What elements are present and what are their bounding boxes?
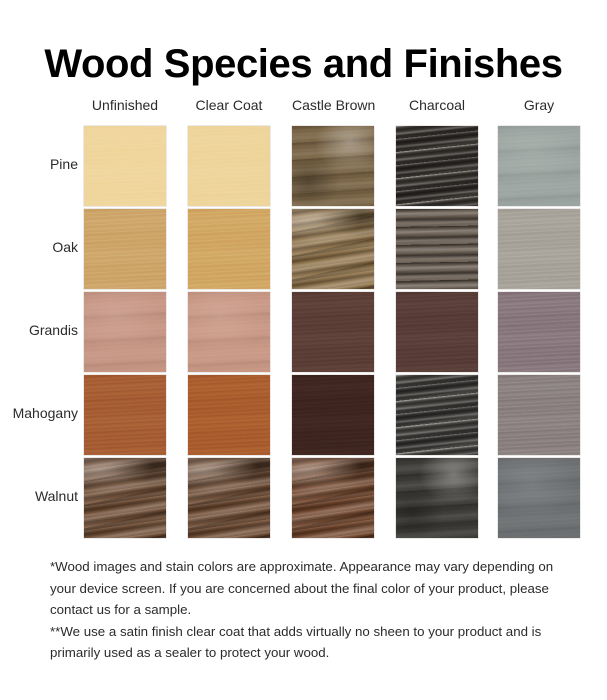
swatch-pine-charcoal[interactable]	[396, 126, 478, 206]
swatch-mahogany-unfinished[interactable]	[84, 375, 166, 455]
swatch-grandis-castle-brown[interactable]	[292, 292, 374, 372]
swatch-pine-castle-brown[interactable]	[292, 126, 374, 206]
row-label-mahogany: Mahogany	[0, 404, 78, 422]
column-header-clear-coat: Clear Coat	[188, 96, 270, 114]
swatch-grid: UnfinishedClear CoatCastle BrownCharcoal…	[0, 96, 607, 541]
swatch-mahogany-clear-coat[interactable]	[188, 375, 270, 455]
footnotes: *Wood images and stain colors are approx…	[50, 556, 566, 664]
swatch-oak-unfinished[interactable]	[84, 209, 166, 289]
column-header-castle-brown: Castle Brown	[292, 96, 374, 114]
swatch-walnut-gray[interactable]	[498, 458, 580, 538]
swatch-grandis-gray[interactable]	[498, 292, 580, 372]
column-header-charcoal: Charcoal	[396, 96, 478, 114]
swatch-row: Pine	[0, 126, 607, 209]
footnote: *Wood images and stain colors are approx…	[50, 556, 566, 621]
swatch-row: Mahogany	[0, 375, 607, 458]
swatch-walnut-charcoal[interactable]	[396, 458, 478, 538]
page-title: Wood Species and Finishes	[0, 42, 607, 86]
column-header-gray: Gray	[498, 96, 580, 114]
swatch-oak-charcoal[interactable]	[396, 209, 478, 289]
swatch-oak-gray[interactable]	[498, 209, 580, 289]
swatch-oak-clear-coat[interactable]	[188, 209, 270, 289]
swatch-oak-castle-brown[interactable]	[292, 209, 374, 289]
row-label-oak: Oak	[0, 238, 78, 256]
swatch-row: Oak	[0, 209, 607, 292]
footnote: **We use a satin finish clear coat that …	[50, 621, 566, 664]
swatch-pine-unfinished[interactable]	[84, 126, 166, 206]
swatch-walnut-unfinished[interactable]	[84, 458, 166, 538]
swatch-row: Grandis	[0, 292, 607, 375]
swatch-grandis-charcoal[interactable]	[396, 292, 478, 372]
wood-finish-chart: Wood Species and Finishes UnfinishedClea…	[0, 0, 607, 700]
row-label-pine: Pine	[0, 155, 78, 173]
swatch-row: Walnut	[0, 458, 607, 541]
swatch-mahogany-gray[interactable]	[498, 375, 580, 455]
swatch-grandis-clear-coat[interactable]	[188, 292, 270, 372]
row-label-grandis: Grandis	[0, 321, 78, 339]
column-header-unfinished: Unfinished	[84, 96, 166, 114]
swatch-mahogany-castle-brown[interactable]	[292, 375, 374, 455]
swatch-walnut-clear-coat[interactable]	[188, 458, 270, 538]
row-label-walnut: Walnut	[0, 487, 78, 505]
swatch-pine-gray[interactable]	[498, 126, 580, 206]
swatch-mahogany-charcoal[interactable]	[396, 375, 478, 455]
swatch-grandis-unfinished[interactable]	[84, 292, 166, 372]
swatch-pine-clear-coat[interactable]	[188, 126, 270, 206]
swatch-walnut-castle-brown[interactable]	[292, 458, 374, 538]
swatch-rows: PineOakGrandisMahoganyWalnut	[0, 126, 607, 541]
column-header-row: UnfinishedClear CoatCastle BrownCharcoal…	[0, 96, 607, 122]
